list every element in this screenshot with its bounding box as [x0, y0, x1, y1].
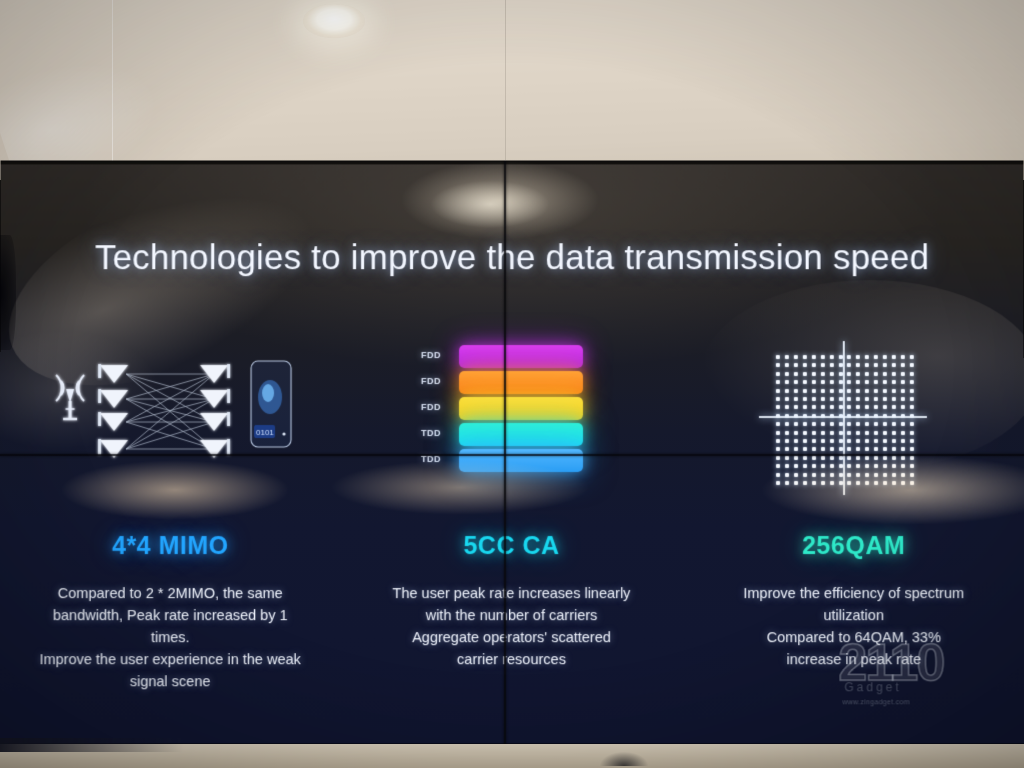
- qam-point: [874, 464, 878, 468]
- qam-point: [785, 431, 789, 435]
- carrier-aggregation-diagram: FDD FDD FDD TDD: [341, 365, 682, 520]
- qam-point: [839, 439, 843, 443]
- video-wall-bezel-horizontal: [0, 454, 1024, 456]
- qam-point: [865, 473, 869, 477]
- qam-point: [856, 447, 860, 451]
- qam-point: [883, 447, 887, 451]
- slide-title: Technologies to improve the data transmi…: [0, 238, 1023, 278]
- qam-point: [838, 363, 842, 367]
- carrier-row: FDD: [409, 345, 639, 368]
- qam-point: [829, 363, 833, 367]
- mimo-antenna-art: 0101: [48, 357, 298, 467]
- body-line: Aggregate operators' scattered: [355, 627, 668, 649]
- body-line: Improve the user experience in the weak: [17, 649, 322, 671]
- qam-point: [865, 422, 869, 426]
- carrier-bar-cyan: [459, 423, 583, 446]
- phone-icon: 0101: [251, 361, 291, 447]
- qam-point: [821, 481, 825, 485]
- qam-point: [776, 405, 780, 409]
- qam-point: [776, 439, 780, 443]
- qam-point: [838, 389, 842, 393]
- qam-point: [785, 372, 789, 376]
- qam-point: [821, 355, 825, 359]
- qam-point: [874, 389, 878, 393]
- qam-point: [856, 422, 860, 426]
- qam-point: [785, 439, 789, 443]
- qam-point: [856, 431, 860, 435]
- qam-point: [794, 481, 798, 485]
- screen-glare-ceiling-light: [400, 160, 600, 240]
- qam-point: [803, 397, 807, 401]
- qam-art: [773, 353, 913, 483]
- qam-point: [910, 456, 914, 460]
- qam-point: [821, 405, 825, 409]
- qam-point: [821, 389, 825, 393]
- qam-point: [892, 405, 896, 409]
- qam-point: [821, 456, 825, 460]
- qam-point: [910, 397, 914, 401]
- mimo-tx-antennas: [98, 364, 128, 458]
- qam-point: [839, 481, 843, 485]
- qam-point: [812, 405, 816, 409]
- qam-point: [910, 405, 914, 409]
- qam-point: [847, 447, 851, 451]
- qam-point: [883, 456, 887, 460]
- qam-point: [821, 439, 825, 443]
- qam-point: [803, 447, 807, 451]
- qam-point: [910, 363, 914, 367]
- qam-point: [901, 380, 905, 384]
- qam-point: [829, 389, 833, 393]
- qam-point: [883, 464, 887, 468]
- qam-axis-vertical: [843, 341, 845, 495]
- qam-point: [794, 473, 798, 477]
- qam-point: [812, 456, 816, 460]
- qam-point: [838, 380, 842, 384]
- qam-point: [794, 464, 798, 468]
- mimo-crosslinks: [126, 374, 214, 449]
- qam-point: [847, 464, 851, 468]
- qam-point: [830, 431, 834, 435]
- qam-point: [892, 431, 896, 435]
- qam-point: [821, 464, 825, 468]
- qam-point: [874, 380, 878, 384]
- qam-point: [812, 431, 816, 435]
- qam-point: [794, 405, 798, 409]
- carrier-label: FDD: [409, 402, 453, 412]
- qam-point: [901, 397, 905, 401]
- qam-point: [883, 363, 887, 367]
- qam-point: [847, 481, 851, 485]
- qam-point: [856, 363, 860, 367]
- qam-point: [856, 389, 860, 393]
- qam-point: [812, 447, 816, 451]
- column-body-ca: The user peak rate increases linearly wi…: [341, 583, 682, 671]
- qam-point: [838, 431, 842, 435]
- qam-point: [776, 355, 780, 359]
- qam-point: [910, 431, 914, 435]
- qam-point: [856, 481, 860, 485]
- qam-point: [794, 372, 798, 376]
- body-line: utilization: [693, 605, 1014, 627]
- qam-point: [785, 405, 789, 409]
- body-line: Improve the efficiency of spectrum: [693, 583, 1014, 605]
- qam-point: [910, 464, 914, 468]
- qam-point: [901, 481, 905, 485]
- body-line: bandwidth, Peak rate increased by 1: [18, 605, 323, 627]
- column-body-mimo: Compared to 2 * 2MIMO, the same bandwidt…: [0, 583, 341, 693]
- qam-point: [874, 355, 878, 359]
- qam-point: [803, 355, 807, 359]
- qam-point: [794, 439, 798, 443]
- carrier-row: FDD: [409, 371, 639, 394]
- qam-point: [874, 439, 878, 443]
- qam-point: [794, 431, 798, 435]
- qam-point: [776, 363, 780, 367]
- qam-point: [901, 447, 905, 451]
- qam-point: [901, 389, 905, 393]
- qam-point: [838, 405, 842, 409]
- qam-point: [901, 363, 905, 367]
- qam-point: [776, 447, 780, 451]
- qam-point: [829, 380, 833, 384]
- qam-point: [847, 397, 851, 401]
- qam-point: [830, 447, 834, 451]
- qam-point: [856, 405, 860, 409]
- floor-edge-shade: [0, 738, 1024, 752]
- qam-point: [821, 422, 825, 426]
- carrier-label: TDD: [409, 428, 453, 438]
- qam-point: [847, 473, 851, 477]
- qam-point: [803, 405, 807, 409]
- qam-point: [865, 456, 869, 460]
- qam-point: [865, 389, 869, 393]
- qam-point: [803, 439, 807, 443]
- qam-point: [812, 439, 816, 443]
- qam-point: [865, 363, 869, 367]
- qam-point: [794, 447, 798, 451]
- qam-point: [838, 372, 842, 376]
- body-line: increase in peak rate: [693, 649, 1014, 671]
- qam-point: [856, 473, 860, 477]
- qam-point: [865, 431, 869, 435]
- body-line: with the number of carriers: [355, 605, 668, 627]
- qam-point: [874, 405, 878, 409]
- qam-point: [865, 405, 869, 409]
- qam-point: [776, 431, 780, 435]
- qam-point: [892, 372, 896, 376]
- qam-point: [892, 464, 896, 468]
- carrier-row: FDD: [409, 397, 639, 420]
- qam-point: [839, 447, 843, 451]
- wall-panel-seam-left: [112, 0, 113, 170]
- qam-point: [803, 431, 807, 435]
- qam-point: [776, 473, 780, 477]
- qam-point: [776, 380, 780, 384]
- screen-glare-ceiling-light: [430, 180, 550, 228]
- qam-point: [821, 447, 825, 451]
- qam-point: [865, 355, 869, 359]
- qam-point: [829, 355, 833, 359]
- qam-point: [901, 422, 905, 426]
- qam-point: [883, 380, 887, 384]
- qam-point: [838, 422, 842, 426]
- wall-panel-seam-center: [505, 0, 506, 160]
- qam-point: [785, 456, 789, 460]
- qam-point: [839, 464, 843, 468]
- qam-point: [785, 464, 789, 468]
- qam-point: [803, 389, 807, 393]
- qam-point: [865, 439, 869, 443]
- qam-point: [901, 372, 905, 376]
- qam-point: [901, 439, 905, 443]
- qam-point: [803, 422, 807, 426]
- qam-point: [856, 372, 860, 376]
- qam-point: [847, 456, 851, 460]
- qam-point: [883, 431, 887, 435]
- qam-point: [865, 397, 869, 401]
- qam-point: [785, 397, 789, 401]
- qam-point: [830, 473, 834, 477]
- column-heading-ca: 5CC CA: [341, 532, 682, 561]
- cell-tower-icon: [56, 375, 84, 419]
- qam-point: [874, 431, 878, 435]
- body-line: Compared to 2 * 2MIMO, the same: [18, 583, 323, 605]
- mimo-svg: 0101: [48, 357, 298, 469]
- foreground-object: [0, 235, 16, 350]
- qam-point: [821, 363, 825, 367]
- qam-point: [830, 397, 834, 401]
- qam-point: [847, 380, 851, 384]
- watermark-subtext: Gadget: [844, 680, 1018, 694]
- qam-constellation-diagram: [683, 365, 1024, 520]
- qam-point: [838, 355, 842, 359]
- qam-point: [776, 464, 780, 468]
- column-heading-mimo: 4*4 MIMO: [0, 532, 341, 561]
- carrier-label: FDD: [409, 376, 453, 386]
- qam-point: [892, 439, 896, 443]
- qam-point: [901, 464, 905, 468]
- qam-point: [883, 422, 887, 426]
- qam-point: [892, 363, 896, 367]
- qam-point: [901, 473, 905, 477]
- qam-point: [803, 456, 807, 460]
- body-line: Compared to 64QAM, 33%: [693, 627, 1014, 649]
- qam-point: [776, 389, 780, 393]
- qam-point: [883, 405, 887, 409]
- body-line: signal scene: [17, 671, 322, 693]
- qam-point: [803, 481, 807, 485]
- qam-point: [865, 372, 869, 376]
- qam-point: [892, 355, 896, 359]
- qam-point: [812, 372, 816, 376]
- qam-point: [812, 397, 816, 401]
- qam-point: [910, 355, 914, 359]
- qam-point: [865, 481, 869, 485]
- qam-point: [847, 405, 851, 409]
- qam-point: [901, 456, 905, 460]
- qam-point: [812, 464, 816, 468]
- carrier-row: TDD: [409, 449, 639, 472]
- qam-point: [910, 372, 914, 376]
- qam-point: [776, 397, 780, 401]
- qam-point: [910, 380, 914, 384]
- qam-point: [830, 422, 834, 426]
- body-line: times.: [18, 627, 323, 649]
- qam-point: [901, 355, 905, 359]
- qam-point: [830, 405, 834, 409]
- qam-point: [776, 372, 780, 376]
- column-heading-qam: 256QAM: [683, 532, 1024, 561]
- qam-point: [785, 389, 789, 393]
- qam-point: [892, 447, 896, 451]
- qam-point: [794, 355, 798, 359]
- qam-point: [829, 372, 833, 376]
- qam-point: [785, 380, 789, 384]
- qam-point: [874, 456, 878, 460]
- qam-point: [803, 363, 807, 367]
- qam-point: [892, 380, 896, 384]
- floor-object: [600, 752, 648, 766]
- slide-column-ca: FDD FDD FDD TDD: [341, 365, 682, 671]
- slide-column-qam: 256QAM Improve the efficiency of spectru…: [683, 365, 1024, 671]
- qam-point: [883, 355, 887, 359]
- qam-point: [910, 473, 914, 477]
- qam-point: [785, 473, 789, 477]
- qam-point: [883, 389, 887, 393]
- qam-point: [910, 481, 914, 485]
- qam-point: [776, 422, 780, 426]
- qam-point: [838, 397, 842, 401]
- qam-point: [812, 380, 816, 384]
- qam-point: [839, 473, 843, 477]
- carrier-bar-blue: [459, 449, 583, 472]
- qam-point: [803, 380, 807, 384]
- qam-point: [812, 363, 816, 367]
- qam-point: [910, 389, 914, 393]
- qam-point: [856, 439, 860, 443]
- qam-point: [785, 447, 789, 451]
- qam-point: [892, 481, 896, 485]
- qam-point: [830, 481, 834, 485]
- qam-point: [821, 372, 825, 376]
- qam-point: [821, 473, 825, 477]
- qam-point: [874, 473, 878, 477]
- qam-point: [830, 439, 834, 443]
- qam-point: [856, 464, 860, 468]
- qam-point: [874, 422, 878, 426]
- carrier-bars: FDD FDD FDD TDD: [409, 345, 639, 480]
- qam-point: [874, 363, 878, 367]
- qam-point: [847, 422, 851, 426]
- qam-point: [901, 405, 905, 409]
- qam-point: [865, 447, 869, 451]
- qam-point: [865, 464, 869, 468]
- qam-point: [874, 481, 878, 485]
- room-wall: [0, 0, 1024, 180]
- qam-point: [874, 372, 878, 376]
- qam-point: [821, 431, 825, 435]
- qam-point: [892, 422, 896, 426]
- qam-point: [794, 380, 798, 384]
- qam-point: [901, 431, 905, 435]
- qam-point: [847, 439, 851, 443]
- qam-point: [812, 355, 816, 359]
- qam-point: [910, 447, 914, 451]
- qam-point: [830, 464, 834, 468]
- qam-point: [785, 355, 789, 359]
- qam-point: [794, 456, 798, 460]
- qam-point: [856, 397, 860, 401]
- qam-point: [874, 447, 878, 451]
- qam-point: [794, 363, 798, 367]
- qam-point: [776, 481, 780, 485]
- qam-point: [794, 389, 798, 393]
- carrier-row: TDD: [409, 423, 639, 446]
- qam-point: [883, 439, 887, 443]
- ceiling-light-icon: [303, 4, 365, 38]
- qam-point: [794, 397, 798, 401]
- qam-point: [803, 464, 807, 468]
- qam-point: [785, 422, 789, 426]
- qam-point: [856, 355, 860, 359]
- qam-point: [821, 397, 825, 401]
- qam-point: [892, 456, 896, 460]
- qam-point: [803, 372, 807, 376]
- qam-point: [883, 473, 887, 477]
- photo-scene: Technologies to improve the data transmi…: [0, 0, 1024, 768]
- qam-point: [785, 363, 789, 367]
- qam-point: [883, 397, 887, 401]
- mimo-rx-antennas: [200, 364, 230, 458]
- qam-point: [847, 431, 851, 435]
- qam-point: [821, 380, 825, 384]
- qam-point: [892, 389, 896, 393]
- screen-top-edge: [1, 160, 1024, 164]
- qam-point: [910, 422, 914, 426]
- qam-point: [847, 355, 851, 359]
- qam-point: [856, 380, 860, 384]
- qam-point: [830, 456, 834, 460]
- mimo-diagram: 0101: [0, 365, 341, 520]
- watermark-url: www.zingadget.com: [842, 699, 1018, 706]
- svg-text:0101: 0101: [256, 428, 274, 437]
- qam-point: [883, 372, 887, 376]
- qam-point: [794, 422, 798, 426]
- qam-point: [776, 456, 780, 460]
- qam-point: [812, 481, 816, 485]
- qam-point: [812, 473, 816, 477]
- qam-point: [839, 456, 843, 460]
- carrier-label: FDD: [409, 350, 453, 360]
- qam-point: [910, 439, 914, 443]
- column-body-qam: Improve the efficiency of spectrum utili…: [683, 583, 1024, 671]
- qam-point: [847, 363, 851, 367]
- video-wall-screen: Technologies to improve the data transmi…: [0, 160, 1024, 748]
- carrier-bar-magenta: [459, 345, 583, 368]
- qam-point: [892, 473, 896, 477]
- qam-point: [883, 481, 887, 485]
- qam-point: [892, 397, 896, 401]
- qam-point: [812, 422, 816, 426]
- qam-point: [865, 380, 869, 384]
- slide-column-mimo: 0101 4*4 MIMO Compared to 2 * 2MIMO, the…: [0, 365, 341, 693]
- qam-point: [874, 397, 878, 401]
- qam-point: [785, 481, 789, 485]
- qam-point: [847, 389, 851, 393]
- qam-point: [847, 372, 851, 376]
- body-line: carrier resources: [355, 649, 668, 671]
